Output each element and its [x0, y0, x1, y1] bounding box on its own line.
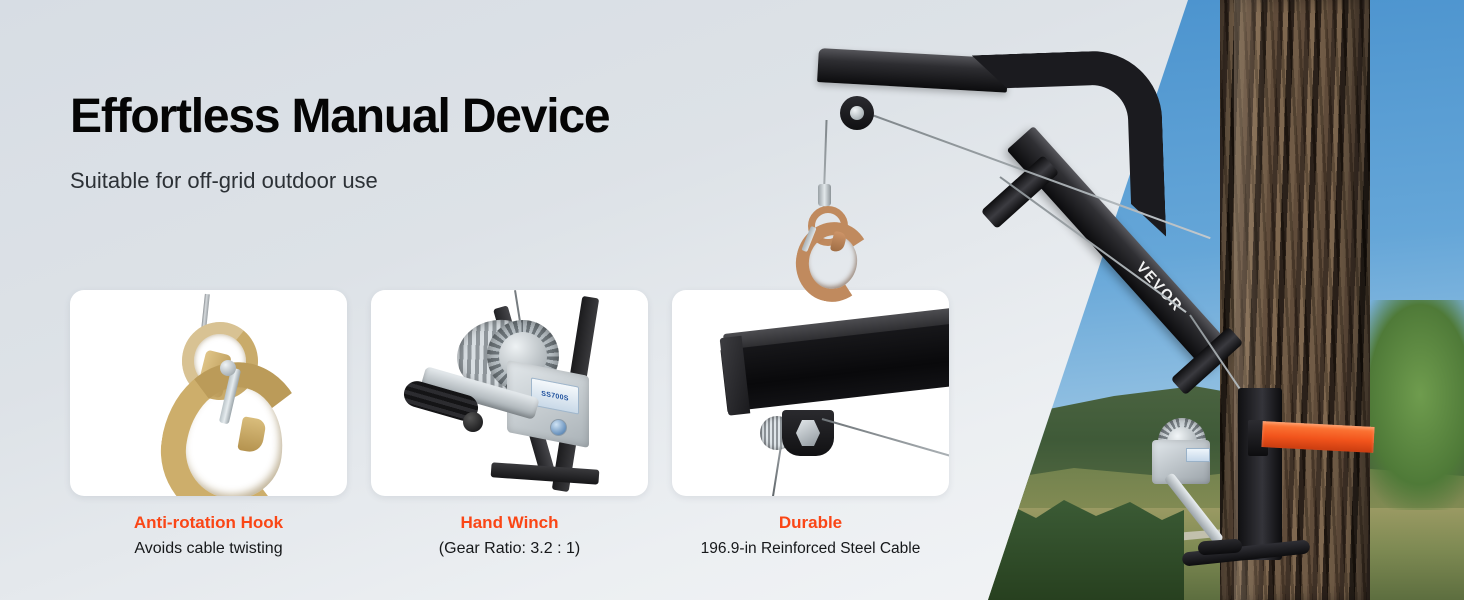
steel-cable-down-icon	[771, 442, 782, 496]
feature-card-cable	[672, 290, 949, 496]
hook-illustration	[70, 290, 347, 496]
page-subtitle: Suitable for off-grid outdoor use	[70, 168, 378, 194]
winch-sticker-text: SS700S	[541, 390, 569, 402]
boom-tip-pin	[850, 106, 864, 120]
scene-winch-body	[1152, 440, 1210, 484]
feature-card-list: SS700S	[70, 290, 950, 496]
feature-caption-cable: Durable 196.9-in Reinforced Steel Cable	[672, 512, 949, 560]
scene-winch-label	[1186, 448, 1210, 462]
vertical-mast	[1238, 388, 1282, 560]
feature-title: Durable	[672, 512, 949, 535]
product-banner: Effortless Manual Device Suitable for of…	[0, 0, 1464, 600]
feature-title: Hand Winch	[371, 512, 648, 535]
winch-illustration: SS700S	[371, 290, 648, 496]
feature-card-winch: SS700S	[371, 290, 648, 496]
feature-caption-winch: Hand Winch (Gear Ratio: 3.2 : 1)	[371, 512, 648, 560]
winch-knob-icon	[463, 412, 483, 432]
feature-card-hook	[70, 290, 347, 496]
winch-bolt-icon	[550, 419, 567, 436]
feature-subtitle: (Gear Ratio: 3.2 : 1)	[371, 538, 648, 560]
boom-tube-illustration	[672, 290, 949, 496]
feature-caption-list: Anti-rotation Hook Avoids cable twisting…	[70, 512, 950, 560]
latch-pin-icon	[220, 360, 236, 376]
page-title: Effortless Manual Device	[70, 92, 609, 142]
feature-title: Anti-rotation Hook	[70, 512, 347, 535]
right-side-tree	[1354, 300, 1464, 510]
winch-frame-base-icon	[491, 462, 600, 484]
steel-cable-side-icon	[822, 418, 949, 461]
feature-caption-hook: Anti-rotation Hook Avoids cable twisting	[70, 512, 347, 560]
cable-thimble-icon	[818, 184, 831, 206]
feature-subtitle: Avoids cable twisting	[70, 538, 347, 560]
feature-subtitle: 196.9-in Reinforced Steel Cable	[672, 538, 949, 560]
